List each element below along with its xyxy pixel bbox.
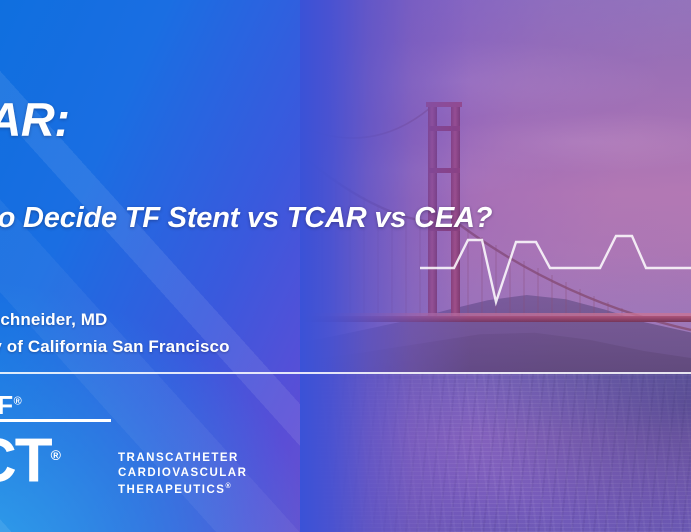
presenter-affiliation: ersity of California San Francisco	[0, 337, 230, 357]
tct-fullname-line-3-text: THERAPEUTICS	[118, 484, 225, 496]
tct-fullname-line-2: CARDIOVASCULAR	[118, 466, 247, 481]
tct-text: CT	[0, 427, 51, 496]
tct-fullname-registered-mark: ®	[225, 483, 232, 490]
tct-fullname-line-1: TRANSCATHETER	[118, 451, 247, 466]
ecg-waveform-overlay	[420, 224, 691, 344]
crf-registered-mark: ®	[14, 395, 23, 407]
ecg-waveform-icon	[420, 224, 691, 344]
tct-fullname-line-3: THERAPEUTICS®	[118, 480, 247, 497]
presentation-slide: CAR: w to Decide TF Stent vs TCAR vs CEA…	[0, 0, 691, 532]
crf-wordmark: RF®	[0, 390, 22, 421]
horizon-rule	[0, 372, 691, 374]
logo-divider-rule	[0, 419, 111, 422]
crf-text: RF	[0, 390, 14, 420]
page-subtitle: w to Decide TF Stent vs TCAR vs CEA?	[0, 202, 492, 235]
page-title: CAR:	[0, 92, 69, 147]
tct-fullname: TRANSCATHETER CARDIOVASCULAR THERAPEUTIC…	[118, 451, 247, 497]
tct-registered-mark: ®	[51, 447, 61, 463]
tct-wordmark: CT®	[0, 424, 61, 493]
presenter-name: r A. Schneider, MD	[0, 310, 107, 330]
